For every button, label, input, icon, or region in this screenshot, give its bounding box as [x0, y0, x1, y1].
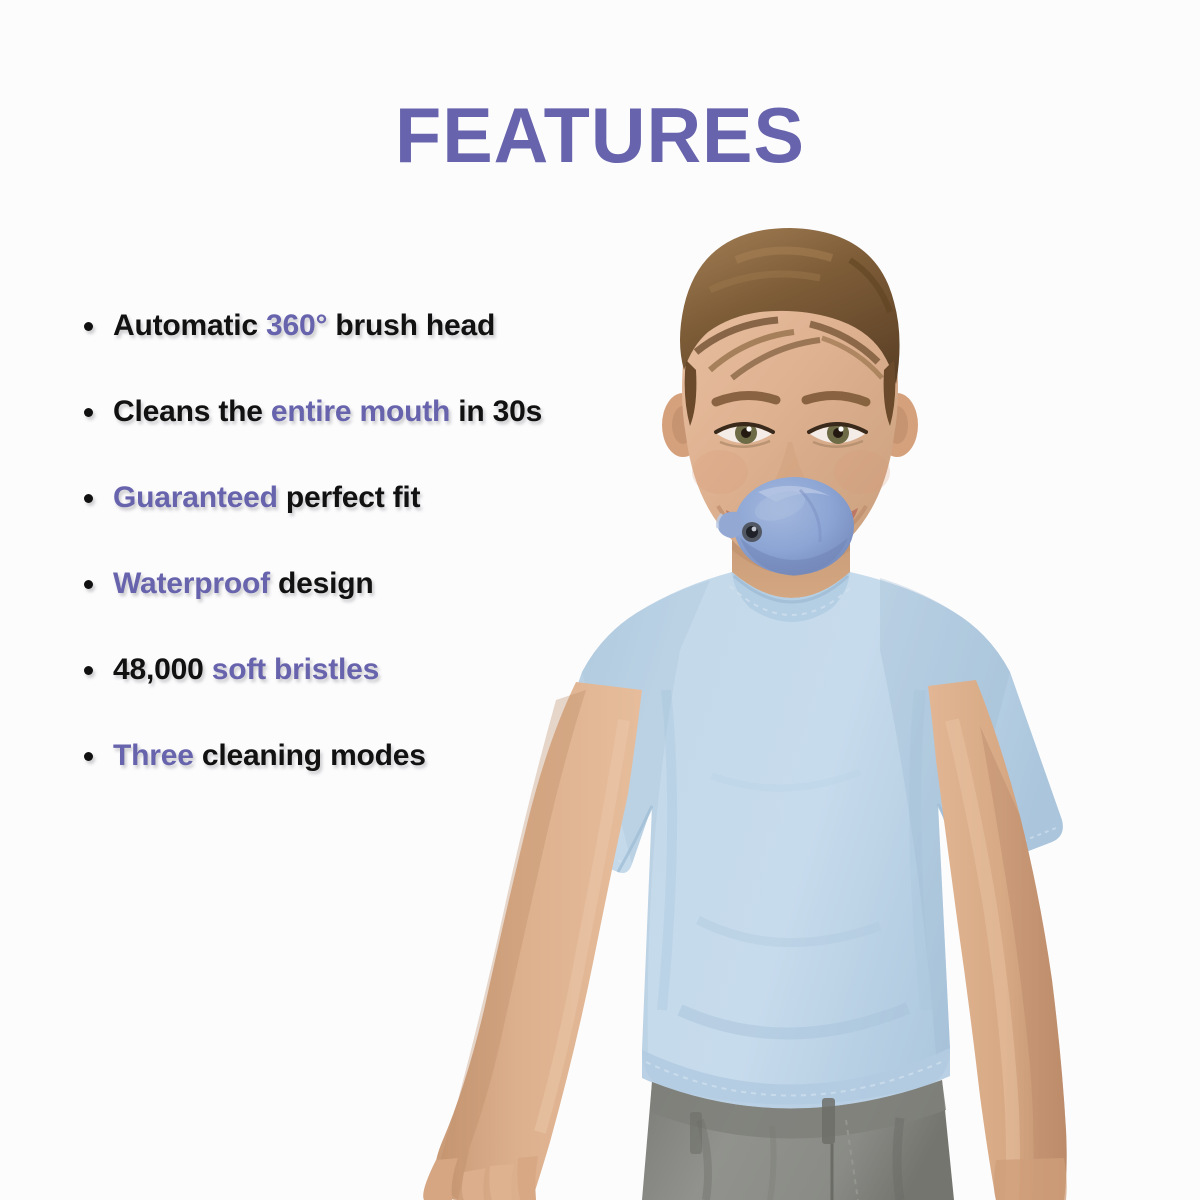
bullet-dot-icon — [84, 752, 93, 761]
feature-text: design — [270, 567, 374, 600]
feature-accent-text: Three — [113, 739, 194, 772]
feature-card: FEATURES Automatic 360° brush headCleans… — [0, 0, 1200, 1200]
page-title: FEATURES — [18, 96, 1182, 174]
bullet-dot-icon — [84, 580, 93, 589]
feature-accent-text: 360° — [266, 309, 327, 342]
left-arm — [423, 682, 642, 1200]
bullet-dot-icon — [84, 494, 93, 503]
feature-accent-text: soft bristles — [212, 653, 379, 686]
feature-accent-text: Waterproof — [113, 567, 270, 600]
feature-text: Cleans the — [113, 395, 271, 428]
feature-accent-text: Guaranteed — [113, 481, 278, 514]
feature-text: Automatic — [113, 309, 266, 342]
right-arm — [928, 680, 1067, 1200]
bullet-dot-icon — [84, 408, 93, 417]
feature-text: 48,000 — [113, 653, 212, 686]
bullet-dot-icon — [84, 322, 93, 331]
bullet-dot-icon — [84, 666, 93, 675]
product-lifestyle-photo — [380, 220, 1200, 1200]
